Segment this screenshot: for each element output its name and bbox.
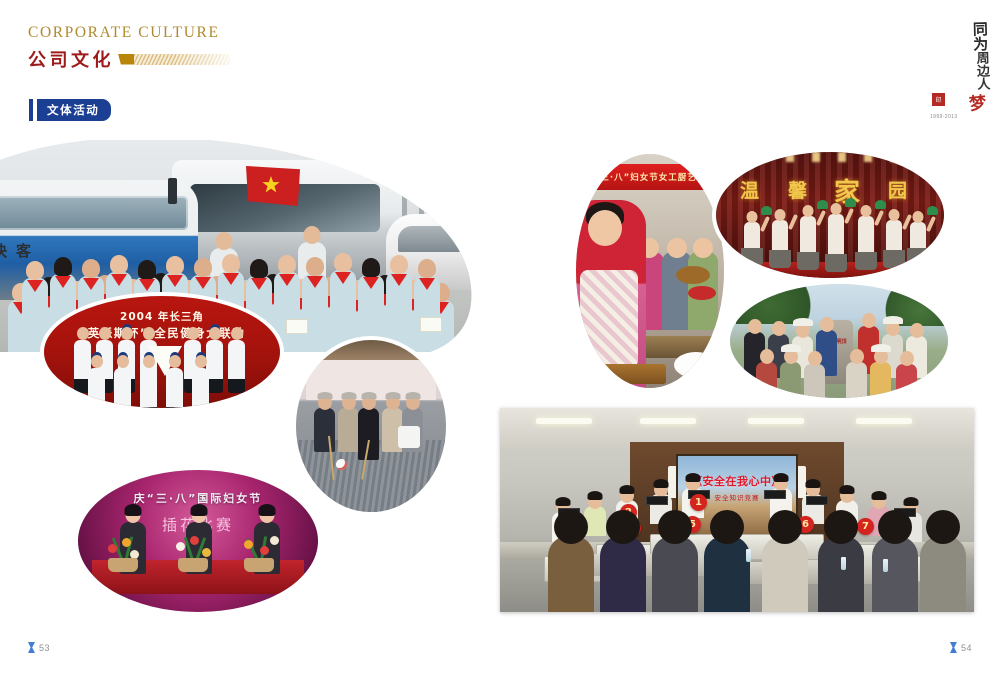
gold-hatch-bar (134, 54, 230, 65)
dancer-figure (800, 216, 816, 256)
athlete-figure (74, 340, 91, 380)
hiker-figure (780, 362, 801, 398)
photo-elderly-croquet-game[interactable] (296, 340, 446, 512)
audience-figure (652, 536, 698, 612)
dancer-figure (910, 222, 926, 252)
hiker-figure (896, 364, 917, 398)
header-eyebrow-en: CORPORATE CULTURE (28, 24, 230, 42)
flower (108, 544, 117, 553)
elder-figure (338, 408, 359, 452)
green-prop (845, 198, 856, 207)
photo-content: 2004 年长三角 “英派斯杯” 全民健身大联动 (44, 296, 280, 408)
score-display (646, 496, 668, 505)
flower (260, 546, 269, 555)
flower (190, 536, 199, 545)
brand-subtitle: 1999-2013 (930, 114, 958, 120)
skirt (741, 248, 763, 266)
tab-accent-bar (29, 99, 33, 121)
athlete-figure (228, 340, 245, 380)
audience-figure (600, 536, 646, 612)
photo-womens-day-cooking-contest[interactable]: 庆“三·八”妇女节女工厨艺比赛 (576, 154, 724, 388)
photo-content (296, 340, 446, 512)
page-number-right: 54 (950, 642, 972, 653)
dancer-figure (828, 214, 844, 258)
folio-number: 53 (39, 643, 50, 653)
basket (244, 558, 274, 572)
stage-lights (716, 152, 944, 162)
audience-figure (704, 536, 750, 612)
handout-paper (420, 317, 442, 332)
photo-content: ◤ ◉ 《安全在我心中》 安全知识竞赛 (500, 408, 974, 612)
hiker-figure (804, 364, 825, 398)
white-bag (398, 426, 420, 448)
photo-staff-hiking-group[interactable]: 光明顶 (730, 284, 948, 398)
cutting-board (592, 364, 666, 384)
photo-stage-dance-performance[interactable]: 温 馨 家 园 (716, 152, 944, 278)
team-number-badge: 7 (857, 518, 874, 535)
flower (176, 542, 185, 551)
green-prop (875, 200, 886, 209)
event-banner: 庆“三·八”妇女节女工厨艺比赛 (576, 164, 724, 190)
score-display (764, 490, 786, 499)
ceiling-light (856, 418, 912, 424)
ceiling-light (748, 418, 804, 424)
white-plate (674, 352, 718, 378)
awning-roof (296, 340, 446, 362)
hiker-figure (756, 362, 777, 398)
brand-line-1: 同为 (971, 21, 990, 51)
face (588, 210, 622, 246)
basket (108, 558, 138, 572)
foreground-participant (576, 200, 646, 388)
banner-line-1: 2004 年长三角 (120, 309, 204, 324)
skirt (883, 250, 905, 268)
elder-figure (314, 408, 335, 452)
brochure-spread: CORPORATE CULTURE 公司文化 文体活动 同为周边人 印 梦 19… (0, 0, 1000, 673)
potted-plant (62, 388, 74, 402)
croquet-ball (336, 459, 347, 470)
audience-figure (548, 536, 594, 612)
flower (270, 536, 279, 545)
page-header: CORPORATE CULTURE 公司文化 (28, 24, 230, 72)
green-prop (817, 200, 828, 209)
skirt (825, 254, 847, 272)
flower (122, 538, 131, 547)
folio-number: 54 (961, 643, 972, 653)
page-number-left: 53 (28, 642, 50, 653)
green-prop (761, 206, 772, 215)
elder-player (358, 408, 379, 460)
brass-bowl (676, 266, 710, 284)
ceiling-light (536, 418, 592, 424)
flower-arrangement (236, 532, 282, 572)
green-prop (927, 206, 938, 215)
young-pioneers-flag (246, 166, 300, 206)
athlete-figure (96, 340, 113, 380)
bus-mirror (168, 178, 177, 204)
ceiling-light (640, 418, 696, 424)
gold-flag-icon (118, 54, 134, 65)
brand-calligraphy: 同为周边人 印 梦 1999-2013 (916, 22, 988, 122)
skirt (855, 252, 877, 270)
audience-figure (872, 536, 918, 612)
section-tab-label: 文体活动 (37, 99, 111, 121)
dancer-figure (858, 216, 874, 256)
team-number-badge: 1 (690, 494, 707, 511)
hiker-figure (870, 362, 891, 398)
water-bottle (841, 557, 846, 570)
flower (244, 540, 253, 549)
basket (178, 558, 208, 572)
water-bottle (883, 559, 888, 572)
skirt (797, 252, 819, 270)
dancer-figure (744, 222, 760, 252)
stage-word-2: 馨 (788, 176, 807, 203)
score-display (806, 496, 828, 505)
potted-plant (250, 388, 262, 402)
photo-womens-day-flower-arranging[interactable]: 庆“三·八”国际妇女节 插花比赛 (78, 470, 318, 612)
photo-safety-knowledge-contest[interactable]: ◤ ◉ 《安全在我心中》 安全知识竞赛 (500, 408, 974, 612)
athlete-figure (184, 340, 201, 380)
page-gutter (499, 0, 500, 673)
hiker-figure (846, 362, 867, 398)
page-title: 公司文化 (28, 46, 114, 72)
photo-content: 温 馨 家 园 (716, 152, 944, 278)
floral-apron (580, 270, 638, 368)
audience-figure (818, 536, 864, 612)
skirt (769, 250, 791, 268)
stage-word-1: 温 (740, 176, 759, 203)
flower-arrangement (170, 532, 216, 572)
folio-mark-icon (950, 642, 957, 653)
handout-paper (286, 319, 308, 334)
red-food-tray (688, 286, 716, 300)
water-bottle (746, 549, 751, 562)
audience-figure (762, 536, 808, 612)
flower (202, 548, 211, 557)
photo-content: 庆“三·八”妇女节女工厨艺比赛 (576, 154, 724, 388)
flower-arrangement (100, 532, 146, 572)
skirt (907, 248, 929, 266)
brand-dream-character: 梦 (968, 88, 988, 115)
dancer-figure (772, 220, 788, 254)
header-title-row: 公司文化 (28, 46, 230, 72)
section-tab[interactable]: 文体活动 (29, 99, 111, 121)
dancer-figure (886, 220, 902, 254)
photo-content: 庆“三·八”国际妇女节 插花比赛 (78, 470, 318, 612)
audience-figure (920, 536, 966, 612)
stage-word-4: 园 (888, 176, 907, 203)
photo-content: 光明顶 (730, 284, 948, 398)
photo-sports-team-group[interactable]: 2004 年长三角 “英派斯杯” 全民健身大联动 (44, 296, 280, 408)
folio-mark-icon (28, 642, 35, 653)
brand-line-2: 周边人 (973, 51, 989, 90)
brand-seal-icon: 印 (932, 93, 945, 106)
